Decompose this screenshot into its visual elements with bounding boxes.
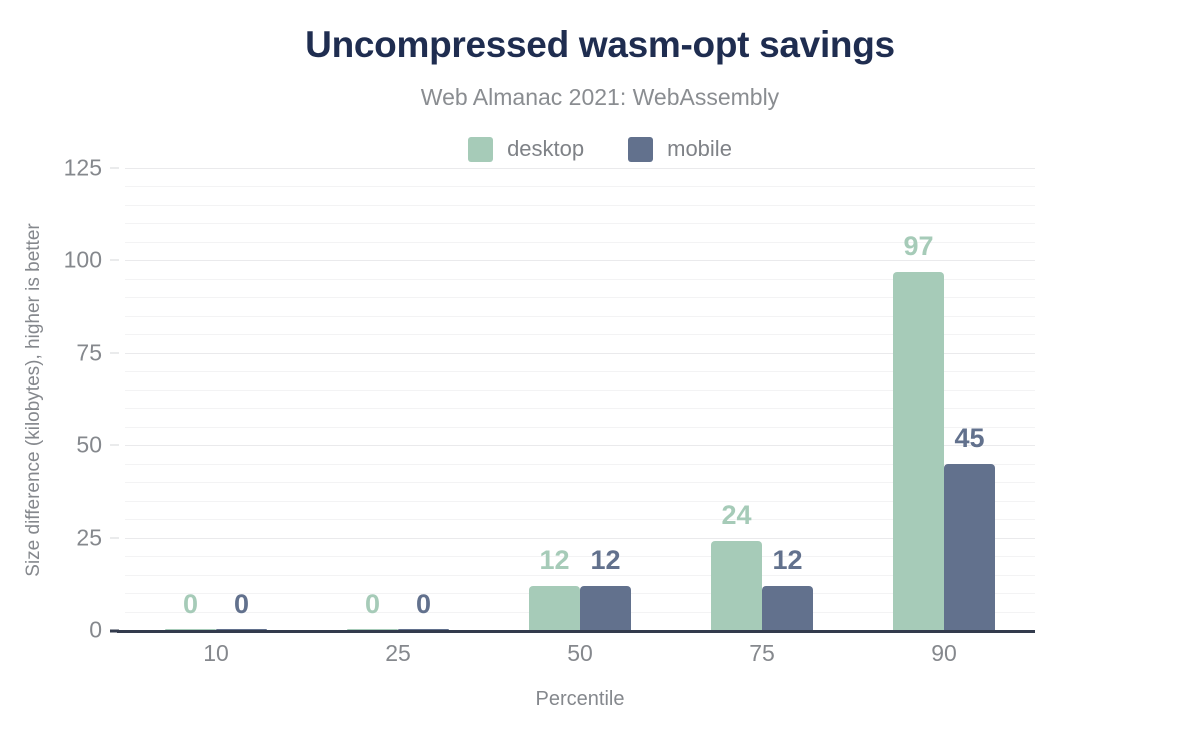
bar-group: 1212 xyxy=(489,168,671,630)
bar-desktop-75[interactable] xyxy=(711,541,762,630)
bar-value-label: 12 xyxy=(590,545,620,576)
y-axis: Size difference (kilobytes), higher is b… xyxy=(0,168,115,630)
chart-title: Uncompressed wasm-opt savings xyxy=(0,24,1200,66)
y-axis-tick-mark xyxy=(110,352,119,353)
y-axis-tick-mark xyxy=(110,168,119,169)
bar-group: 00 xyxy=(307,168,489,630)
chart-container: Uncompressed wasm-opt savings Web Almana… xyxy=(0,0,1200,742)
bar-slot: 97 xyxy=(893,168,944,630)
bar-group: 2412 xyxy=(671,168,853,630)
legend-label-mobile: mobile xyxy=(667,136,732,162)
bar-value-label: 45 xyxy=(954,423,984,454)
bar-slot: 0 xyxy=(216,168,267,630)
bar-groups: 0000121224129745 xyxy=(125,168,1035,630)
y-axis-tick-label: 75 xyxy=(76,339,102,366)
x-axis-baseline xyxy=(117,630,1035,633)
y-axis-tick-label: 50 xyxy=(76,432,102,459)
bar-value-label: 12 xyxy=(539,545,569,576)
y-axis-tick-mark xyxy=(110,445,119,446)
bar-mobile-75[interactable] xyxy=(762,586,813,630)
bar-value-label: 24 xyxy=(721,500,751,531)
bar-mobile-90[interactable] xyxy=(944,464,995,630)
bar-slot: 0 xyxy=(347,168,398,630)
plot-area: 0000121224129745 xyxy=(125,168,1035,630)
bar-slot: 45 xyxy=(944,168,995,630)
legend-label-desktop: desktop xyxy=(507,136,584,162)
x-axis-tick-label: 25 xyxy=(307,640,489,667)
bar-value-label: 97 xyxy=(903,231,933,262)
x-axis-tick-label: 50 xyxy=(489,640,671,667)
bar-desktop-50[interactable] xyxy=(529,586,580,630)
y-axis-tick-label: 0 xyxy=(89,617,102,644)
bar-group: 00 xyxy=(125,168,307,630)
y-axis-title: Size difference (kilobytes), higher is b… xyxy=(23,190,45,610)
bar-value-label: 0 xyxy=(234,589,249,620)
bar-slot: 12 xyxy=(762,168,813,630)
bar-value-label: 12 xyxy=(772,545,802,576)
y-axis-tick-label: 125 xyxy=(64,155,102,182)
bar-group: 9745 xyxy=(853,168,1035,630)
bar-slot: 12 xyxy=(580,168,631,630)
bar-value-label: 0 xyxy=(416,589,431,620)
x-axis-tick-labels: 1025507590 xyxy=(125,640,1035,667)
legend-swatch-mobile xyxy=(628,137,653,162)
legend-item-mobile[interactable]: mobile xyxy=(628,136,732,162)
y-axis-tick-label: 100 xyxy=(64,247,102,274)
bar-slot: 24 xyxy=(711,168,762,630)
legend-swatch-desktop xyxy=(468,137,493,162)
bar-slot: 0 xyxy=(398,168,449,630)
bar-desktop-90[interactable] xyxy=(893,272,944,631)
bar-slot: 12 xyxy=(529,168,580,630)
legend-item-desktop[interactable]: desktop xyxy=(468,136,584,162)
y-axis-tick-mark xyxy=(110,537,119,538)
bar-slot: 0 xyxy=(165,168,216,630)
x-axis-tick-label: 90 xyxy=(853,640,1035,667)
x-axis-tick-label: 75 xyxy=(671,640,853,667)
chart-subtitle: Web Almanac 2021: WebAssembly xyxy=(0,84,1200,111)
x-axis-title: Percentile xyxy=(125,688,1035,711)
bar-value-label: 0 xyxy=(365,589,380,620)
x-axis-tick-label: 10 xyxy=(125,640,307,667)
y-axis-tick-mark xyxy=(110,260,119,261)
chart-legend: desktop mobile xyxy=(0,136,1200,162)
bar-value-label: 0 xyxy=(183,589,198,620)
bar-mobile-50[interactable] xyxy=(580,586,631,630)
y-axis-tick-label: 25 xyxy=(76,524,102,551)
